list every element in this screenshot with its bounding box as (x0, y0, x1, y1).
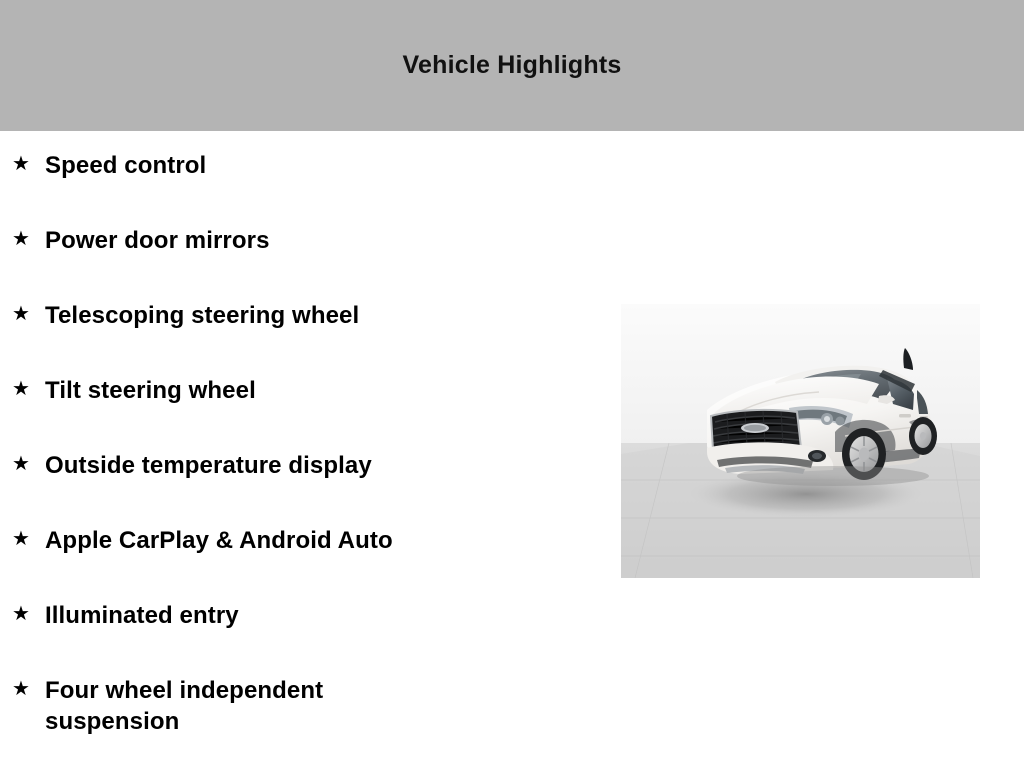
page-title: Vehicle Highlights (0, 50, 1024, 80)
list-item-label: Outside temperature display (45, 431, 600, 481)
star-icon: ★ (12, 304, 30, 324)
list-item: ★ Telescoping steering wheel (0, 281, 600, 356)
star-icon: ★ (12, 529, 30, 549)
list-item: ★ Outside temperature display (0, 431, 600, 506)
vehicle-highlights-list: ★ Speed control ★ Power door mirrors ★ T… (0, 131, 600, 737)
list-item: ★ Speed control (0, 131, 600, 206)
star-icon: ★ (12, 379, 30, 399)
list-item-label: Illuminated entry (45, 581, 600, 631)
list-item-label: Tilt steering wheel (45, 356, 600, 406)
list-item: ★ Apple CarPlay & Android Auto (0, 506, 600, 581)
star-icon: ★ (12, 454, 30, 474)
vehicle-photo-image (621, 304, 980, 578)
list-item-label: Power door mirrors (45, 206, 600, 256)
vehicle-photo (621, 304, 980, 578)
star-icon: ★ (12, 154, 30, 174)
list-item: ★ Tilt steering wheel (0, 356, 600, 431)
list-item: ★ Four wheel independent suspension (0, 656, 600, 737)
star-icon: ★ (12, 679, 30, 699)
star-icon: ★ (12, 229, 30, 249)
list-item: ★ Illuminated entry (0, 581, 600, 656)
header-band: Vehicle Highlights (0, 0, 1024, 131)
list-item-label: Speed control (45, 131, 600, 181)
star-icon: ★ (12, 604, 30, 624)
list-item-label: Four wheel independent suspension (45, 656, 440, 737)
list-item-label: Telescoping steering wheel (45, 281, 600, 331)
list-item: ★ Power door mirrors (0, 206, 600, 281)
list-item-label: Apple CarPlay & Android Auto (45, 506, 600, 556)
